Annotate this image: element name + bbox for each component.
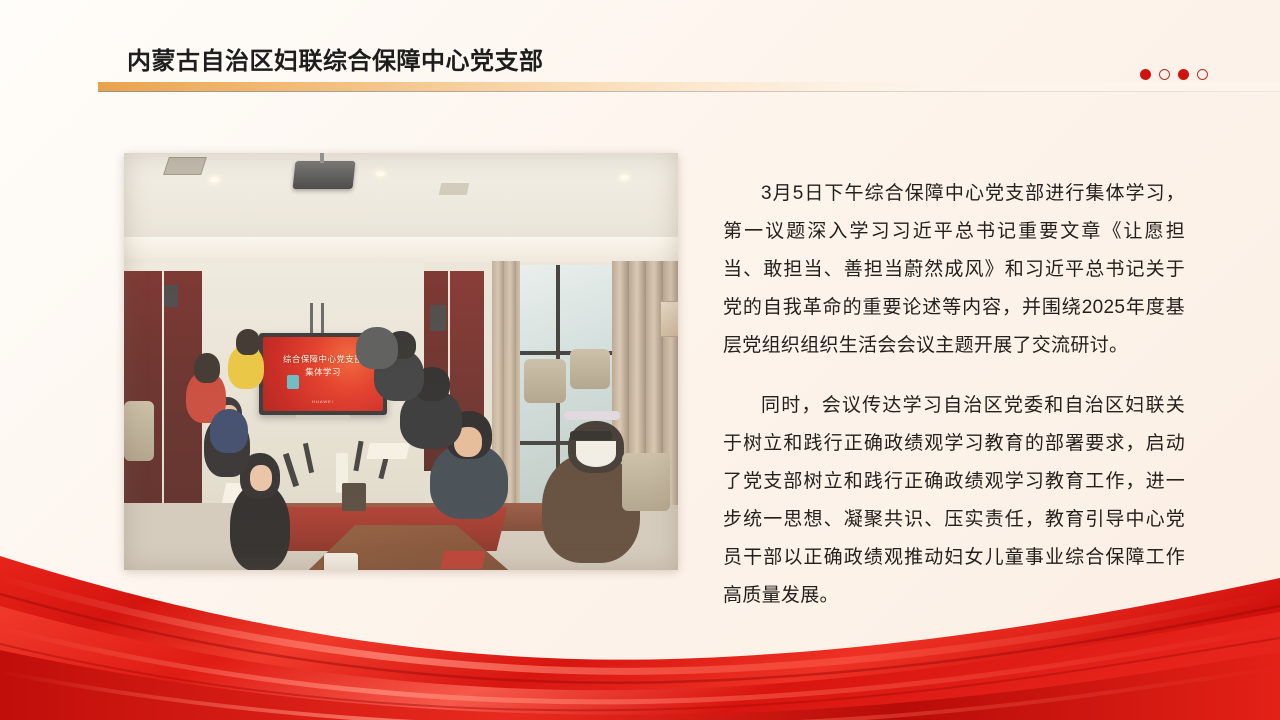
slide-canvas: 内蒙古自治区妇联综合保障中心党支部 <box>0 0 1280 720</box>
article-paragraph-1: 3月5日下午综合保障中心党支部进行集体学习，第一议题深入学习习近平总书记重要文章… <box>723 175 1185 365</box>
pager-dot-1[interactable] <box>1140 69 1151 80</box>
pager-dot-2[interactable] <box>1159 69 1170 80</box>
divider-hairline <box>98 91 1280 92</box>
gold-divider-bar <box>98 82 1280 91</box>
photo-vignette <box>124 153 678 570</box>
page-title: 内蒙古自治区妇联综合保障中心党支部 <box>127 41 544 76</box>
pager-dots[interactable] <box>1140 69 1208 80</box>
pager-dot-3[interactable] <box>1178 69 1189 80</box>
red-ribbon-decoration <box>0 520 1280 720</box>
meeting-photo: 综合保障中心党支部 集体学习 HUAWEI <box>124 153 678 570</box>
pager-dot-4[interactable] <box>1197 69 1208 80</box>
